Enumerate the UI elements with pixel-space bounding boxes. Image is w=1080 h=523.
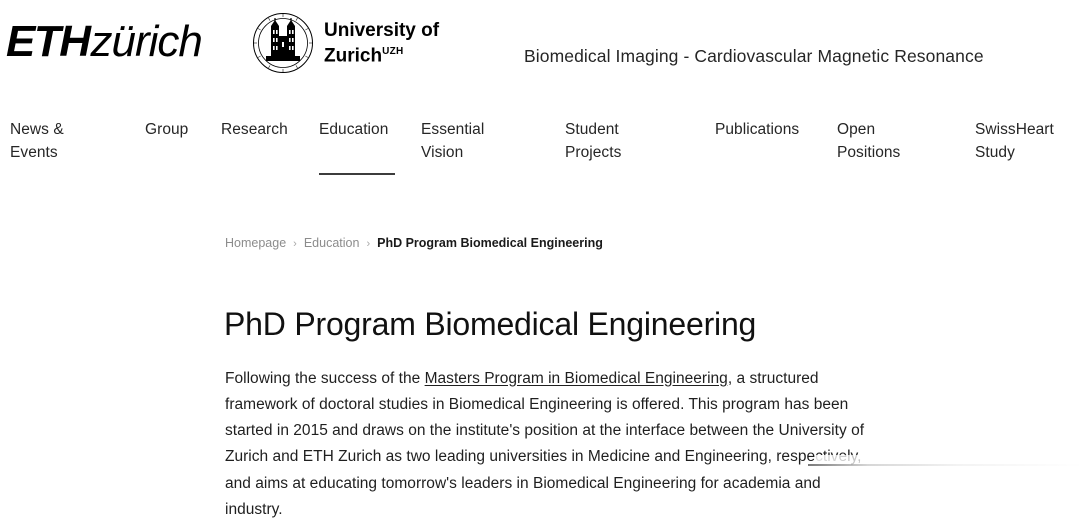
page-root: ETHzürich bbox=[0, 0, 1080, 507]
breadcrumb: Homepage›Education›PhD Program Biomedica… bbox=[225, 235, 603, 252]
masters-program-link[interactable]: Masters Program in Biomedical Engineerin… bbox=[425, 370, 728, 387]
group-title: Biomedical Imaging - Cardiovascular Magn… bbox=[524, 45, 984, 67]
breadcrumb-current: PhD Program Biomedical Engineering bbox=[377, 236, 603, 250]
nav-item-student-projects[interactable]: Student Projects bbox=[565, 118, 621, 164]
uzh-logo[interactable]: University of ZurichUZH bbox=[252, 12, 439, 74]
main-navigation: News & Events Group Research Education E… bbox=[0, 118, 1080, 180]
breadcrumb-link-education[interactable]: Education bbox=[304, 236, 360, 250]
intro-paragraph: Following the success of the Masters Pro… bbox=[225, 366, 880, 523]
nav-label: News & Events bbox=[10, 121, 64, 161]
nav-label: SwissHeart Study bbox=[975, 121, 1054, 161]
uzh-logo-line1: University of bbox=[324, 20, 439, 41]
breadcrumb-separator-icon: › bbox=[366, 238, 370, 250]
paragraph-text-after-link: , a structured framework of doctoral stu… bbox=[225, 370, 864, 518]
nav-item-education[interactable]: Education bbox=[319, 118, 388, 141]
nav-label: Open Positions bbox=[837, 121, 900, 161]
uzh-seal-icon bbox=[252, 12, 314, 74]
eth-zurich-logo[interactable]: ETHzürich bbox=[6, 20, 202, 66]
nav-label: Student Projects bbox=[565, 121, 621, 161]
paragraph-text-before-link: Following the success of the bbox=[225, 370, 425, 387]
nav-item-essential-vision[interactable]: Essential Vision bbox=[421, 118, 484, 164]
uzh-logo-line2-wrap: ZurichUZH bbox=[324, 41, 439, 66]
uzh-logo-superscript: UZH bbox=[382, 46, 403, 57]
breadcrumb-separator-icon: › bbox=[293, 238, 297, 250]
nav-label: Research bbox=[221, 121, 288, 138]
page-title: PhD Program Biomedical Engineering bbox=[224, 304, 756, 344]
nav-item-news-events[interactable]: News & Events bbox=[10, 118, 64, 164]
uzh-logo-line2: Zurich bbox=[324, 45, 382, 66]
site-header: ETHzürich bbox=[0, 0, 1080, 96]
nav-label: Publications bbox=[715, 121, 799, 138]
nav-item-swissheart-study[interactable]: SwissHeart Study bbox=[975, 118, 1054, 164]
uzh-logo-text: University of ZurichUZH bbox=[324, 20, 439, 66]
eth-logo-word: zürich bbox=[91, 20, 202, 64]
nav-label: Group bbox=[145, 121, 188, 138]
nav-item-group[interactable]: Group bbox=[145, 118, 188, 141]
nav-label: Education bbox=[319, 121, 388, 138]
nav-item-open-positions[interactable]: Open Positions bbox=[837, 118, 900, 164]
breadcrumb-link-homepage[interactable]: Homepage bbox=[225, 236, 286, 250]
nav-item-publications[interactable]: Publications bbox=[715, 118, 799, 141]
nav-item-research[interactable]: Research bbox=[221, 118, 288, 141]
nav-active-underline bbox=[319, 173, 395, 175]
eth-logo-mark: ETH bbox=[6, 20, 90, 64]
nav-label: Essential Vision bbox=[421, 121, 484, 161]
